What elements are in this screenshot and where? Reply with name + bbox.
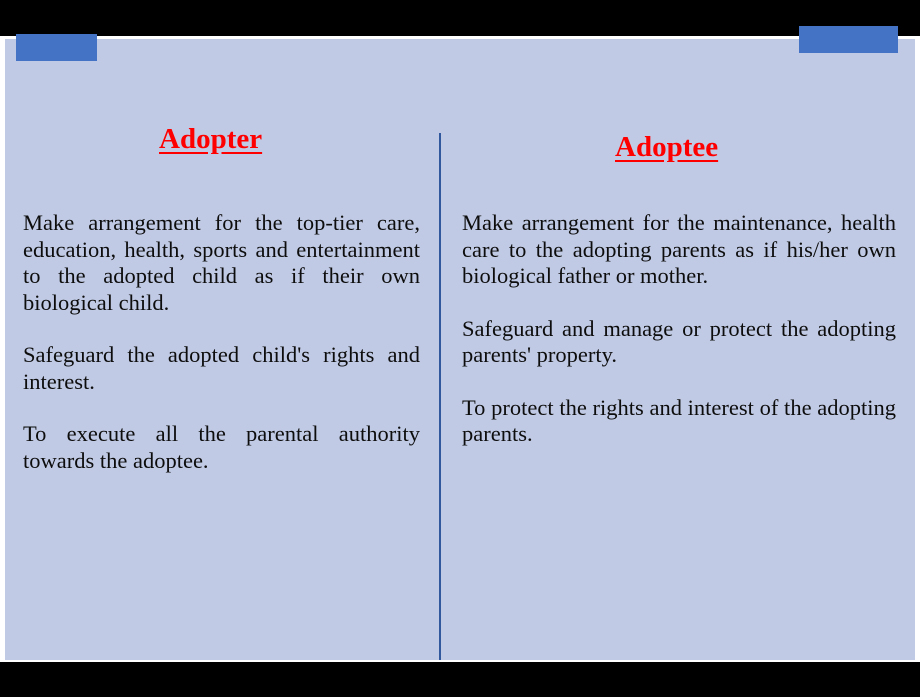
adoptee-duty-3: To protect the rights and interest of th… [462, 395, 896, 448]
accent-bar-top-left [16, 34, 97, 61]
column-heading-adoptee: Adoptee [615, 133, 718, 162]
adoptee-duty-2: Safeguard and manage or protect the adop… [462, 316, 896, 369]
slide-canvas: Adopter Adoptee Make arrangement for the… [5, 39, 915, 660]
column-heading-adopter: Adopter [159, 125, 262, 154]
slide-frame: Adopter Adoptee Make arrangement for the… [0, 0, 920, 697]
adopter-duty-1: Make arrangement for the top-tier care, … [23, 210, 420, 316]
column-body-adopter: Make arrangement for the top-tier care, … [23, 210, 420, 474]
column-body-adoptee: Make arrangement for the maintenance, he… [462, 210, 896, 448]
adopter-duty-2: Safeguard the adopted child's rights and… [23, 342, 420, 395]
adoptee-duty-1: Make arrangement for the maintenance, he… [462, 210, 896, 290]
adopter-duty-3: To execute all the parental authority to… [23, 421, 420, 474]
vertical-divider-line [439, 133, 441, 660]
accent-bar-top-right [799, 26, 898, 53]
